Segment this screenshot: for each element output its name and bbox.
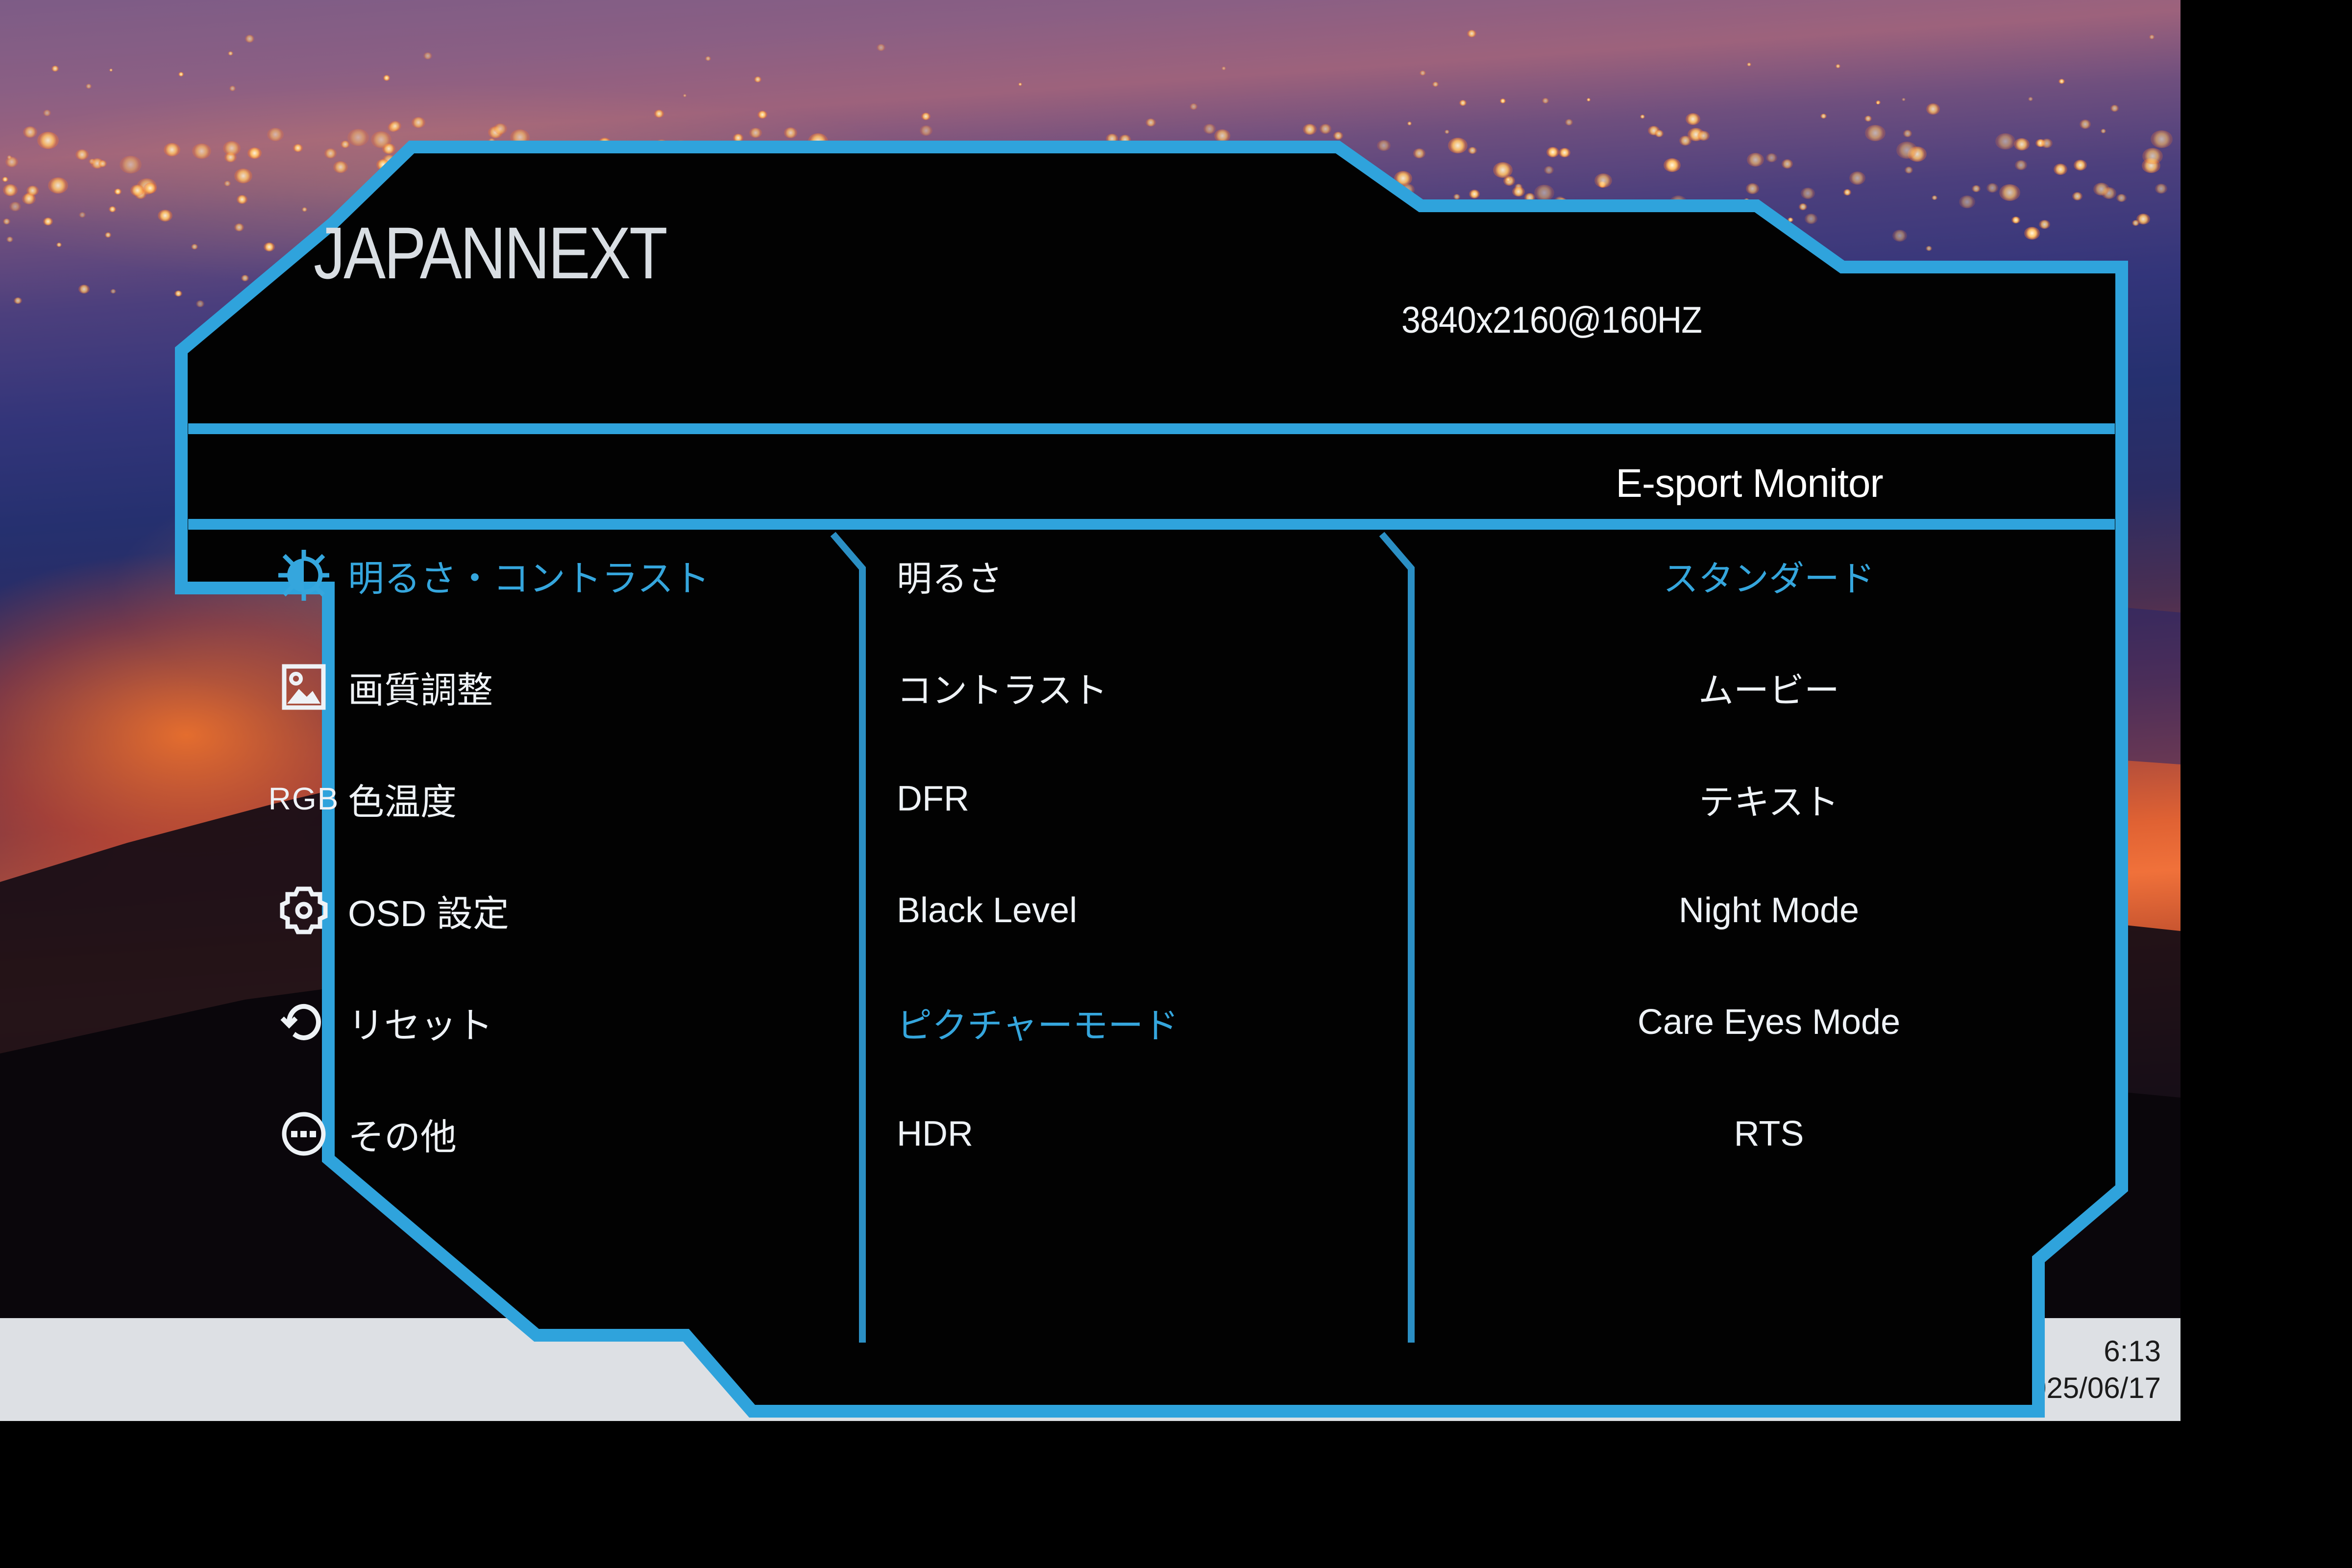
submenu-item-label: Black Level — [897, 890, 1077, 931]
sidebar-item-reset[interactable]: リセット — [260, 986, 862, 1058]
osd-submenu-column: 明るさ コントラスト DFR Black Level ピクチャーモード HDR — [867, 539, 1406, 1274]
gear-icon — [260, 886, 348, 935]
osd-subtitle: E-sport Monitor — [1436, 461, 2063, 507]
option-item-standard[interactable]: スタンダード — [1416, 539, 2122, 612]
sidebar-item-label: OSD 設定 — [348, 884, 509, 937]
reset-arrow-icon — [260, 998, 348, 1047]
submenu-item-hdr[interactable]: HDR — [867, 1098, 1436, 1170]
sidebar-item-label: 画質調整 — [348, 661, 493, 713]
submenu-item-picture-mode[interactable]: ピクチャーモード — [867, 986, 1436, 1058]
submenu-item-label: ピクチャーモード — [897, 997, 1178, 1048]
sidebar-item-label: 色温度 — [348, 773, 457, 825]
submenu-item-label: コントラスト — [897, 661, 1108, 713]
sidebar-item-label: 明るさ・コントラスト — [348, 549, 710, 602]
option-item-label: ムービー — [1698, 661, 1839, 713]
osd-menu[interactable]: JAPANNEXT 3840x2160@160HZ E-sport Monito… — [181, 147, 2122, 1411]
option-item-text[interactable]: テキスト — [1416, 762, 2122, 835]
option-item-night-mode[interactable]: Night Mode — [1416, 874, 2122, 947]
sidebar-item-label: その他 — [348, 1108, 457, 1160]
option-item-label: Care Eyes Mode — [1638, 1002, 1900, 1042]
sidebar-item-image-adjust[interactable]: 画質調整 — [260, 651, 862, 723]
submenu-item-label: 明るさ — [897, 550, 1003, 601]
image-adjust-icon — [260, 663, 348, 710]
sidebar-item-other[interactable]: その他 — [260, 1098, 862, 1170]
rgb-icon: RGB — [260, 781, 348, 817]
brightness-contrast-icon — [260, 550, 348, 601]
option-item-label: テキスト — [1699, 773, 1839, 825]
brand-logo: JAPANNEXT — [314, 211, 666, 295]
submenu-item-brightness[interactable]: 明るさ — [867, 539, 1436, 612]
submenu-item-label: DFR — [897, 779, 969, 819]
option-item-label: Night Mode — [1679, 890, 1859, 931]
submenu-item-label: HDR — [897, 1114, 973, 1154]
option-item-rts[interactable]: RTS — [1416, 1098, 2122, 1170]
submenu-item-contrast[interactable]: コントラスト — [867, 651, 1436, 723]
sidebar-item-osd-settings[interactable]: OSD 設定 — [260, 874, 862, 947]
submenu-item-dfr[interactable]: DFR — [867, 762, 1436, 835]
option-item-label: RTS — [1734, 1114, 1804, 1154]
resolution-label: 3840x2160@160HZ — [1401, 299, 1702, 342]
option-item-care-eyes-mode[interactable]: Care Eyes Mode — [1416, 986, 2122, 1058]
sidebar-item-color-temperature[interactable]: RGB 色温度 — [260, 762, 862, 835]
osd-sidebar-column: 明るさ・コントラスト 画質調整 RGB — [260, 539, 862, 1274]
osd-options-column: スタンダード ムービー テキスト Night Mode Care Eyes Mo… — [1416, 539, 2122, 1274]
ellipsis-circle-icon — [260, 1110, 348, 1157]
sidebar-item-brightness-contrast[interactable]: 明るさ・コントラスト — [260, 539, 862, 612]
rgb-icon-text: RGB — [269, 781, 340, 817]
sidebar-item-label: リセット — [348, 996, 493, 1049]
submenu-item-black-level[interactable]: Black Level — [867, 874, 1436, 947]
option-item-movie[interactable]: ムービー — [1416, 651, 2122, 723]
option-item-label: スタンダード — [1663, 550, 1875, 601]
